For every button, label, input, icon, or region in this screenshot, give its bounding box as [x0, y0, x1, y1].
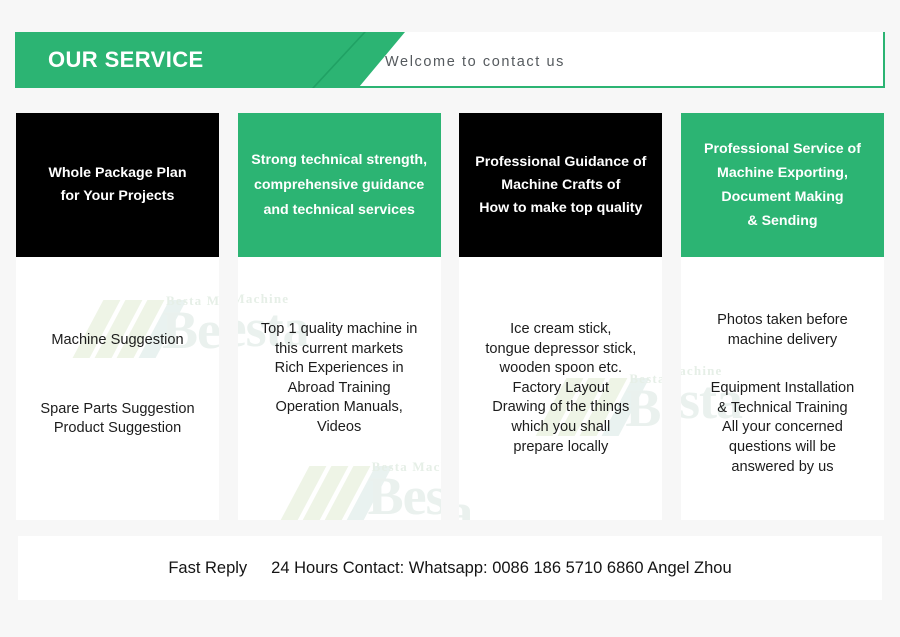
service-item-line: answered by us	[681, 458, 884, 478]
service-item-line: Machine Suggestion	[16, 331, 219, 351]
service-card-heading: Strong technical strength, comprehensive…	[238, 113, 441, 257]
service-card-body: Besta Machine Besta Besta Machine Besta …	[238, 257, 441, 520]
page-title: OUR SERVICE	[48, 32, 204, 88]
heading-line: Professional Service of	[704, 137, 861, 161]
service-item-line: Spare Parts Suggestion	[16, 400, 219, 420]
service-item-line: wooden spoon etc.	[459, 359, 662, 379]
contact-footer: Fast Reply24 Hours Contact: Whatsapp: 00…	[18, 536, 882, 600]
besta-watermark: Besta Machine Besta	[290, 453, 441, 520]
service-item: Machine Suggestion	[16, 331, 219, 351]
heading-line: Professional Guidance of	[475, 151, 646, 174]
heading-line: Document Making	[721, 185, 843, 209]
service-item: Drawing of the things which you shall pr…	[459, 398, 662, 457]
service-card-body: Besta Machine Besta Photos taken before …	[681, 257, 884, 520]
heading-line: Strong technical strength,	[251, 148, 427, 173]
service-item-line: which you shall	[459, 418, 662, 438]
service-card-machine-crafts-guidance: Professional Guidance of Machine Crafts …	[459, 113, 662, 520]
service-item-line: machine delivery	[681, 331, 884, 351]
besta-logo-bars-icon	[290, 469, 376, 520]
heading-line: How to make top quality	[479, 197, 642, 220]
service-card-heading: Professional Service of Machine Exportin…	[681, 113, 884, 257]
service-item-line: Top 1 quality machine in	[238, 320, 441, 340]
contact-info: 24 Hours Contact: Whatsapp: 0086 186 571…	[271, 559, 732, 577]
service-item-line: Factory Layout	[459, 379, 662, 399]
service-item: All your concerned questions will be ans…	[681, 418, 884, 477]
service-item-line: Equipment Installation	[681, 379, 884, 399]
watermark-small-text: Besta Machine	[166, 293, 219, 309]
service-item-line: tongue depressor stick,	[459, 340, 662, 360]
heading-line: & Sending	[747, 209, 817, 233]
service-card-heading: Whole Package Plan for Your Projects	[16, 113, 219, 257]
watermark-small-text: Besta Machine	[681, 363, 723, 379]
service-item-line: Operation Manuals,	[238, 398, 441, 418]
service-item: Spare Parts Suggestion	[16, 400, 219, 420]
besta-watermark: Besta Machine Besta	[459, 469, 533, 520]
heading-line: comprehensive guidance	[254, 173, 424, 198]
heading-line: for Your Projects	[61, 185, 175, 208]
watermark-small-text: Besta Machine	[238, 291, 290, 307]
service-item-line: Videos	[238, 418, 441, 438]
service-card-export-service: Professional Service of Machine Exportin…	[681, 113, 884, 520]
service-item: Ice cream stick, tongue depressor stick,…	[459, 320, 662, 379]
page-header-banner: OUR SERVICE Welcome to contact us	[15, 32, 885, 88]
watermark-small-text: Besta Machine	[372, 459, 441, 475]
service-card-whole-package-plan: Whole Package Plan for Your Projects Bes…	[16, 113, 219, 520]
service-item: Photos taken before machine delivery	[681, 311, 884, 350]
heading-line: Whole Package Plan	[49, 162, 187, 185]
service-item-line: Photos taken before	[681, 311, 884, 331]
service-item-line: Ice cream stick,	[459, 320, 662, 340]
fast-reply-label: Fast Reply	[168, 559, 247, 577]
heading-line: Machine Crafts of	[501, 174, 620, 197]
service-item-line: Rich Experiences in	[238, 359, 441, 379]
service-columns: Whole Package Plan for Your Projects Bes…	[16, 113, 884, 520]
service-item-line: Abroad Training	[238, 379, 441, 399]
service-item: Product Suggestion	[16, 419, 219, 439]
watermark-big-text: Besta	[459, 483, 472, 520]
watermark-big-text: Besta	[368, 467, 441, 520]
service-card-technical-strength: Strong technical strength, comprehensive…	[238, 113, 441, 520]
footer-text-wrapper: Fast Reply24 Hours Contact: Whatsapp: 00…	[168, 559, 731, 578]
service-item-line: & Technical Training	[681, 399, 884, 419]
service-item-line: prepare locally	[459, 438, 662, 458]
service-item-line: All your concerned	[681, 418, 884, 438]
heading-line: and technical services	[263, 198, 414, 223]
service-item: Factory Layout	[459, 379, 662, 399]
service-item: Top 1 quality machine in this current ma…	[238, 320, 441, 359]
service-item-line: Drawing of the things	[459, 398, 662, 418]
service-item: Rich Experiences in Abroad Training	[238, 359, 441, 398]
service-item-line: Product Suggestion	[16, 419, 219, 439]
heading-line: Machine Exporting,	[717, 161, 848, 185]
service-item: Operation Manuals, Videos	[238, 398, 441, 437]
service-card-body: Besta Machine Besta Machine Suggestion S…	[16, 257, 219, 520]
service-item: Equipment Installation & Technical Train…	[681, 379, 884, 418]
service-card-heading: Professional Guidance of Machine Crafts …	[459, 113, 662, 257]
service-item-line: this current markets	[238, 340, 441, 360]
service-card-body: Besta Machine Besta Besta Machine Besta …	[459, 257, 662, 520]
service-item-line: questions will be	[681, 438, 884, 458]
header-subtitle: Welcome to contact us	[385, 32, 565, 88]
